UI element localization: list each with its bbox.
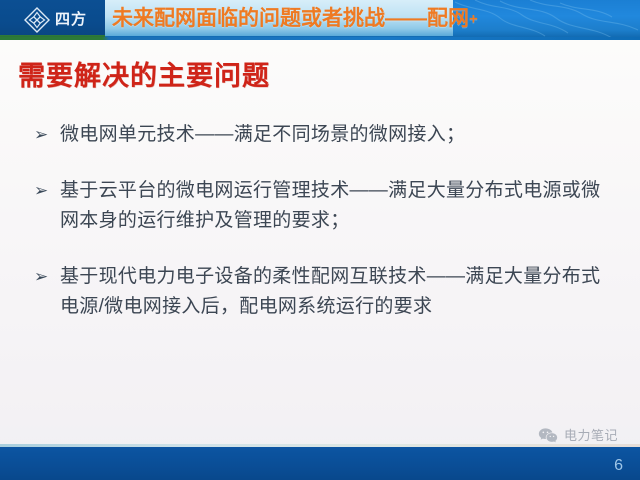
arrow-bullet-icon: ➢ bbox=[34, 176, 60, 206]
arrow-bullet-icon: ➢ bbox=[34, 262, 60, 292]
arrow-bullet-icon: ➢ bbox=[34, 120, 60, 150]
brand-name: 四方 bbox=[55, 10, 87, 30]
header-title: 未来配网面临的问题或者挑战——配网+ bbox=[112, 4, 478, 34]
list-item-text: 基于现代电力电子设备的柔性配网互联技术——满足大量分布式电源/微电网接入后，配电… bbox=[60, 262, 614, 322]
page-number: 6 bbox=[614, 456, 623, 476]
list-item: ➢ 微电网单元技术——满足不同场景的微网接入； bbox=[34, 120, 614, 150]
header-underline bbox=[0, 37, 640, 40]
brand-block[interactable]: 四方 bbox=[0, 0, 105, 40]
compass-diamond-icon bbox=[24, 7, 50, 33]
wechat-icon bbox=[538, 427, 558, 444]
list-item: ➢ 基于云平台的微电网运行管理技术——满足大量分布式电源或微网本身的运行维护及管… bbox=[34, 176, 614, 236]
list-item-text: 微电网单元技术——满足不同场景的微网接入； bbox=[60, 120, 614, 150]
list-item-text: 基于云平台的微电网运行管理技术——满足大量分布式电源或微网本身的运行维护及管理的… bbox=[60, 176, 614, 236]
slide-canvas: 四方 未来配网面临的问题或者挑战——配网+ 需要解决的主要问题 ➢ 微电网单元技… bbox=[0, 0, 640, 480]
bullet-list: ➢ 微电网单元技术——满足不同场景的微网接入； ➢ 基于云平台的微电网运行管理技… bbox=[34, 120, 614, 348]
list-item: ➢ 基于现代电力电子设备的柔性配网互联技术——满足大量分布式电源/微电网接入后，… bbox=[34, 262, 614, 322]
header-title-suffix: + bbox=[469, 10, 478, 27]
slide-header: 四方 未来配网面临的问题或者挑战——配网+ bbox=[0, 0, 640, 40]
footer-band bbox=[0, 447, 640, 480]
watermark-text: 电力笔记 bbox=[564, 428, 618, 444]
page-title: 需要解决的主要问题 bbox=[18, 58, 270, 94]
watermark: 电力笔记 bbox=[538, 427, 618, 444]
header-title-text: 未来配网面临的问题或者挑战——配网 bbox=[112, 7, 469, 30]
